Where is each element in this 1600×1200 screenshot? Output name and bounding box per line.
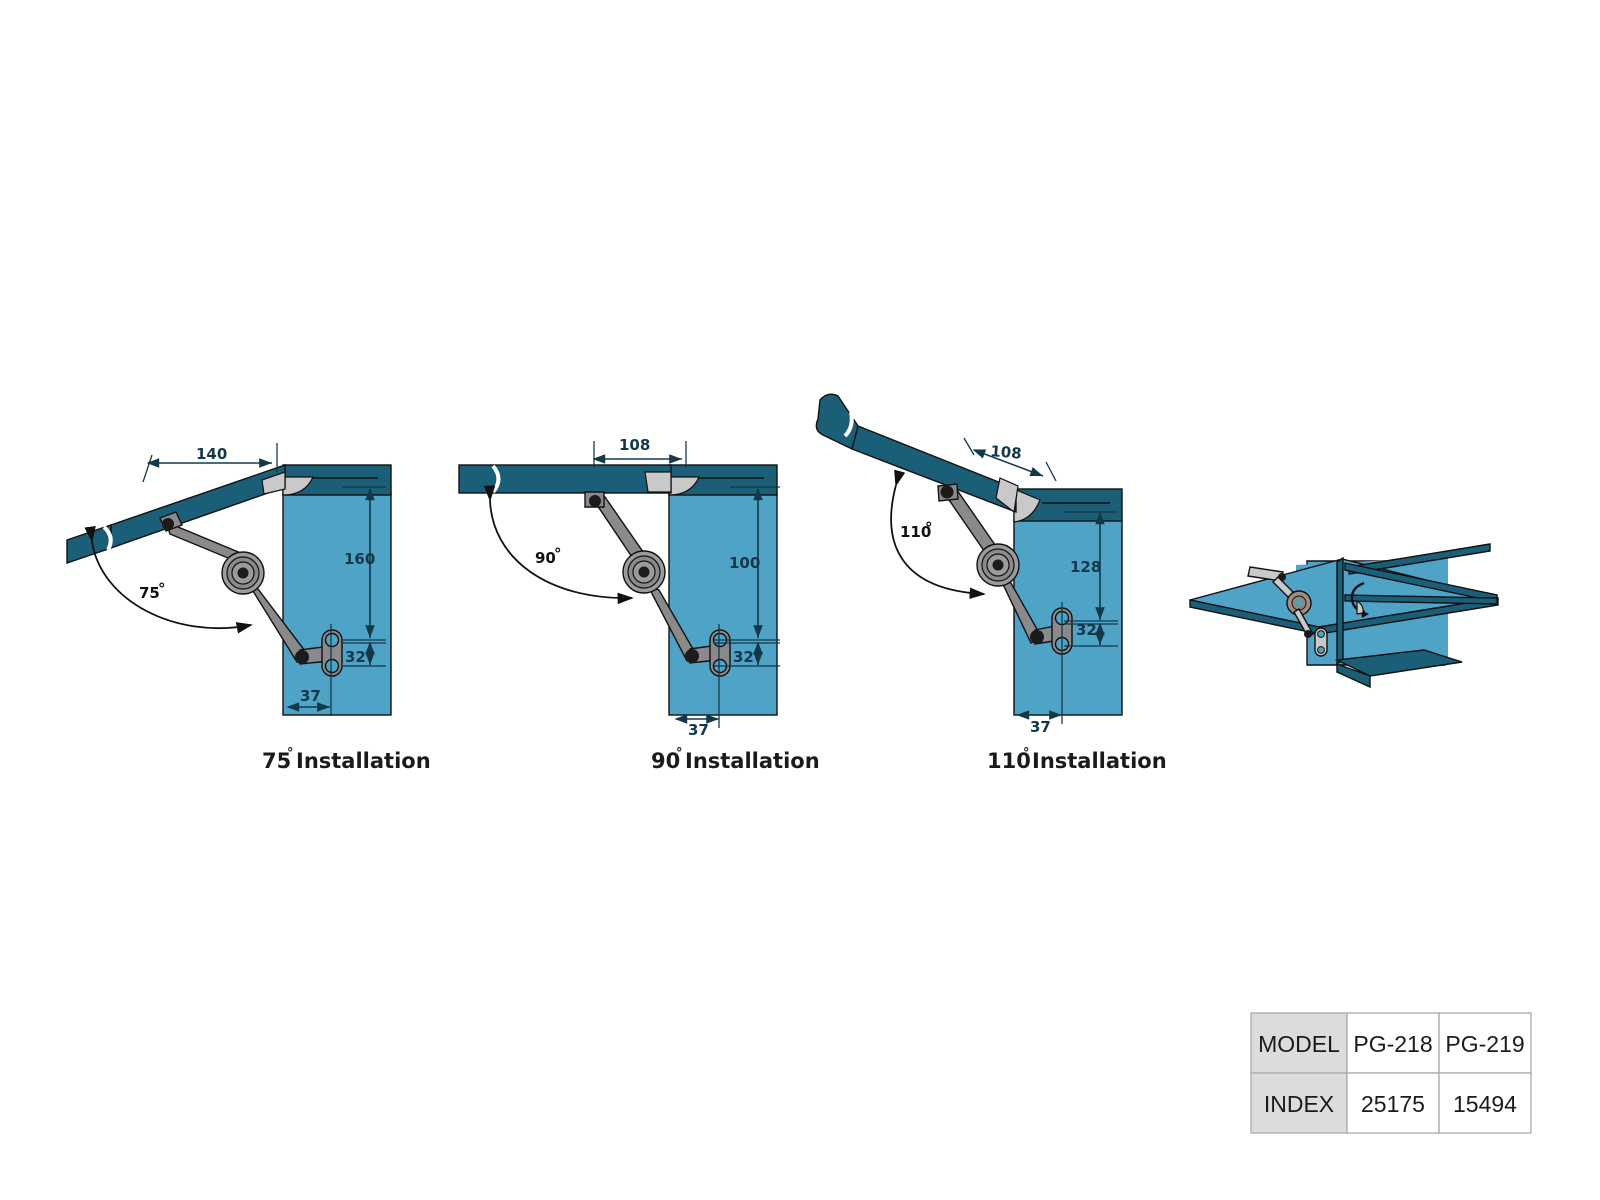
table-row-header-index: INDEX (1264, 1091, 1334, 1117)
dimension-100-label: 100 (729, 554, 760, 572)
table-cell-index-15494: 15494 (1453, 1091, 1517, 1117)
spec-table: MODEL PG-218 PG-219 INDEX 25175 15494 (1251, 1013, 1531, 1133)
caption-110-label: Installation (1032, 749, 1167, 773)
caption-75-label: Installation (296, 749, 431, 773)
angle-label-90-degree: ° (554, 545, 562, 563)
cabinet-body-75 (283, 465, 391, 715)
caption-110-degree: ° (1023, 746, 1030, 761)
angle-label-90-value: 90 (535, 549, 556, 567)
pivot-hub-90 (623, 551, 665, 593)
caption-90-label: Installation (685, 749, 820, 773)
door-panel-90 (459, 465, 671, 493)
caption-90-degree: ° (676, 746, 683, 761)
dimension-108-b-label: 108 (990, 442, 1023, 463)
table-cell-model-pg219: PG-219 (1445, 1031, 1524, 1057)
caption-110: 110 ° Installation (987, 746, 1167, 773)
dimension-37-c-label: 37 (1030, 718, 1051, 736)
caption-90: 90 ° Installation (651, 746, 820, 773)
caption-75: 75 ° Installation (262, 746, 431, 773)
table-cell-index-25175: 25175 (1361, 1091, 1425, 1117)
diagram-sheet: 75 ° 140 160 32 37 (0, 0, 1600, 1200)
pivot-hub-75 (222, 552, 264, 594)
dimension-108-a-label: 108 (619, 436, 650, 454)
caption-75-degree: ° (287, 746, 294, 761)
mounting-plate-90 (710, 630, 730, 676)
cabinet-body-90 (669, 465, 777, 715)
dimension-32-b-label: 32 (733, 648, 754, 666)
dimension-37-b-label: 37 (688, 721, 709, 739)
angle-label-75-degree: ° (158, 580, 166, 598)
table-row-header-model: MODEL (1258, 1031, 1340, 1057)
pivot-hub-110 (977, 544, 1019, 586)
angle-label-110-degree: ° (925, 519, 933, 537)
dimension-160-label: 160 (344, 550, 375, 568)
table-cell-model-pg218: PG-218 (1353, 1031, 1432, 1057)
cabinet-body-110 (1014, 489, 1122, 715)
dimension-32-c-label: 32 (1076, 621, 1097, 639)
mounting-plate-75 (322, 630, 342, 676)
dimension-128-label: 128 (1070, 558, 1101, 576)
dimension-37-a-label: 37 (300, 687, 321, 705)
dimension-32-a-label: 32 (345, 648, 366, 666)
angle-label-75-value: 75 (139, 584, 160, 602)
dimension-140-label: 140 (196, 445, 227, 463)
